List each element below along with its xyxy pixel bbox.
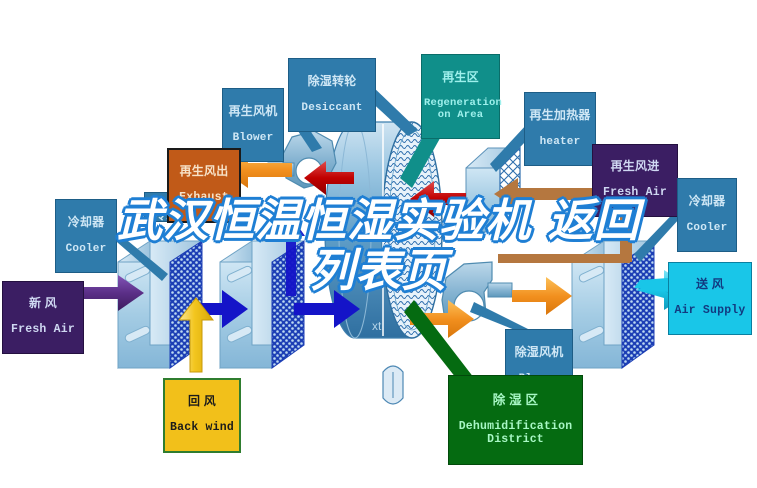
- callout-regen-fresh-air-en: Fresh Air: [595, 187, 675, 200]
- callout-back-wind-cn: 回 风: [167, 395, 237, 408]
- callout-dehumid-blower-cn: 除湿风机: [508, 346, 570, 359]
- callout-regen-heater-cn: 再生加热器: [527, 109, 593, 122]
- callout-cooler-left[interactable]: 冷却器 Cooler: [55, 199, 117, 273]
- callout-regen-fresh-air[interactable]: 再生风进 Fresh Air: [592, 144, 678, 217]
- callout-cooler-right[interactable]: 冷却器 Cooler: [677, 178, 737, 252]
- callout-fresh-air-en: Fresh Air: [6, 324, 80, 337]
- callout-cooler-right-cn: 冷却器: [680, 195, 734, 208]
- callout-cooler-right-en: Cooler: [680, 222, 734, 234]
- wheel-faint-mark: xt: [372, 319, 382, 333]
- callout-air-supply[interactable]: 送 风 Air Supply: [668, 262, 752, 335]
- callout-cooler-left-en: Cooler: [58, 243, 114, 255]
- callout-fresh-air[interactable]: 新 风 Fresh Air: [2, 281, 84, 354]
- callout-dehumid-district-en: Dehumidification District: [451, 421, 580, 447]
- callout-regen-blower-en: Blower: [225, 132, 281, 144]
- callout-regeneration-area[interactable]: 再生区 Regeneration on Area: [421, 54, 500, 139]
- callout-desiccant-cn: 除湿转轮: [291, 75, 373, 88]
- callout-regeneration-area-cn: 再生区: [424, 71, 497, 84]
- callout-cooler-left-cn: 冷却器: [58, 216, 114, 229]
- callout-exhaust-cn: 再生风出: [171, 165, 237, 178]
- callout-dehumid-district-cn: 除 湿 区: [451, 393, 580, 407]
- callout-regen-fresh-air-cn: 再生风进: [595, 160, 675, 173]
- callout-back-wind-en: Back wind: [167, 422, 237, 435]
- callout-regen-heater[interactable]: 再生加热器 heater: [524, 92, 596, 166]
- callout-regen-blower-cn: 再生风机: [225, 105, 281, 118]
- callout-desiccant-en: Desiccant: [291, 102, 373, 114]
- callout-air-supply-en: Air Supply: [671, 305, 749, 318]
- arrow-blower-to-cooler: [512, 277, 572, 315]
- cooler-unit-left: [118, 241, 202, 368]
- callout-regen-heater-en: heater: [527, 136, 593, 148]
- callout-exhaust[interactable]: 再生风出 Exhaust: [167, 148, 241, 223]
- callout-fresh-air-cn: 新 风: [6, 297, 80, 310]
- callout-air-supply-cn: 送 风: [671, 278, 749, 291]
- callout-desiccant[interactable]: 除湿转轮 Desiccant: [288, 58, 376, 132]
- callout-regeneration-area-en: Regeneration on Area: [424, 98, 497, 122]
- callout-exhaust-en: Exhaust: [171, 192, 237, 205]
- dehumidifier-flow-diagram: xt 除湿转轮 Desiccant 再生风机 Blower 再生区 Regene…: [0, 0, 757, 488]
- callout-back-wind[interactable]: 回 风 Back wind: [163, 378, 241, 453]
- callout-dehumidification-district[interactable]: 除 湿 区 Dehumidification District: [448, 375, 583, 465]
